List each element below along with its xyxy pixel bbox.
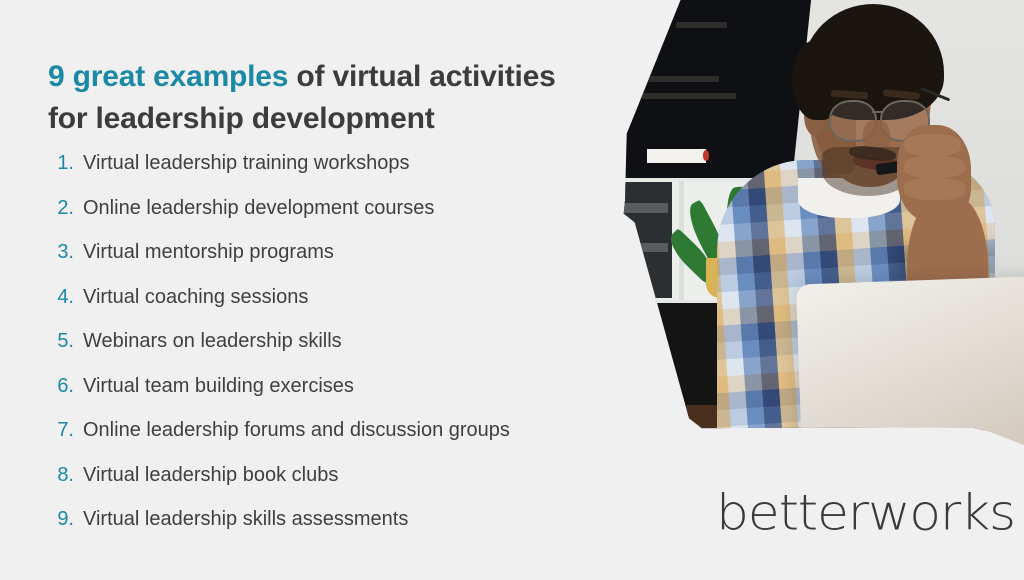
laptop: [796, 276, 1024, 445]
list-item: 6. Virtual team building exercises: [48, 375, 648, 420]
list-item: 9. Virtual leadership skills assessments: [48, 508, 648, 553]
activities-list: 1. Virtual leadership training workshops…: [48, 152, 648, 553]
list-item: 2. Online leadership development courses: [48, 197, 648, 242]
list-item-number: 9.: [48, 508, 74, 530]
list-item-label: Virtual leadership training workshops: [83, 152, 409, 174]
list-item-label: Virtual leadership skills assessments: [83, 508, 408, 530]
betterworks-logo: betterworks: [716, 489, 1015, 538]
hero-photo-image: [600, 0, 1024, 445]
finger: [904, 178, 965, 200]
list-item-number: 7.: [48, 419, 74, 441]
person-hair: [802, 4, 944, 120]
list-item-label: Virtual mentorship programs: [83, 241, 334, 263]
list-item: 7. Online leadership forums and discussi…: [48, 419, 648, 464]
slide-canvas: 9 great examples of virtual activities f…: [0, 0, 1024, 580]
page-title-line2: for leadership development: [48, 102, 435, 135]
list-item: 8. Virtual leadership book clubs: [48, 464, 648, 509]
list-item: 1. Virtual leadership training workshops: [48, 152, 648, 197]
list-item-number: 1.: [48, 152, 74, 174]
list-item-label: Webinars on leadership skills: [83, 330, 342, 352]
list-item-number: 3.: [48, 241, 74, 263]
finger: [904, 156, 965, 178]
list-item-number: 4.: [48, 286, 74, 308]
list-item: 4. Virtual coaching sessions: [48, 286, 648, 331]
list-item: 3. Virtual mentorship programs: [48, 241, 648, 286]
list-item-number: 8.: [48, 464, 74, 486]
page-title: 9 great examples of virtual activities f…: [48, 56, 648, 140]
list-item-number: 6.: [48, 375, 74, 397]
list-item-number: 2.: [48, 197, 74, 219]
finger: [904, 134, 962, 156]
list-item-label: Virtual team building exercises: [83, 375, 354, 397]
page-title-rest: of virtual activities: [288, 60, 555, 93]
list-item-label: Virtual coaching sessions: [83, 286, 308, 308]
shelf-label: [647, 149, 706, 163]
list-item-number: 5.: [48, 330, 74, 352]
wall-text-line-2: [642, 76, 718, 82]
list-item-label: Online leadership forums and discussion …: [83, 419, 510, 441]
page-title-accent: 9 great examples: [48, 60, 288, 93]
list-item: 5. Webinars on leadership skills: [48, 330, 648, 375]
glasses-bridge: [872, 111, 882, 113]
list-item-label: Online leadership development courses: [83, 197, 434, 219]
list-item-label: Virtual leadership book clubs: [83, 464, 338, 486]
hero-photo: [600, 0, 1024, 445]
